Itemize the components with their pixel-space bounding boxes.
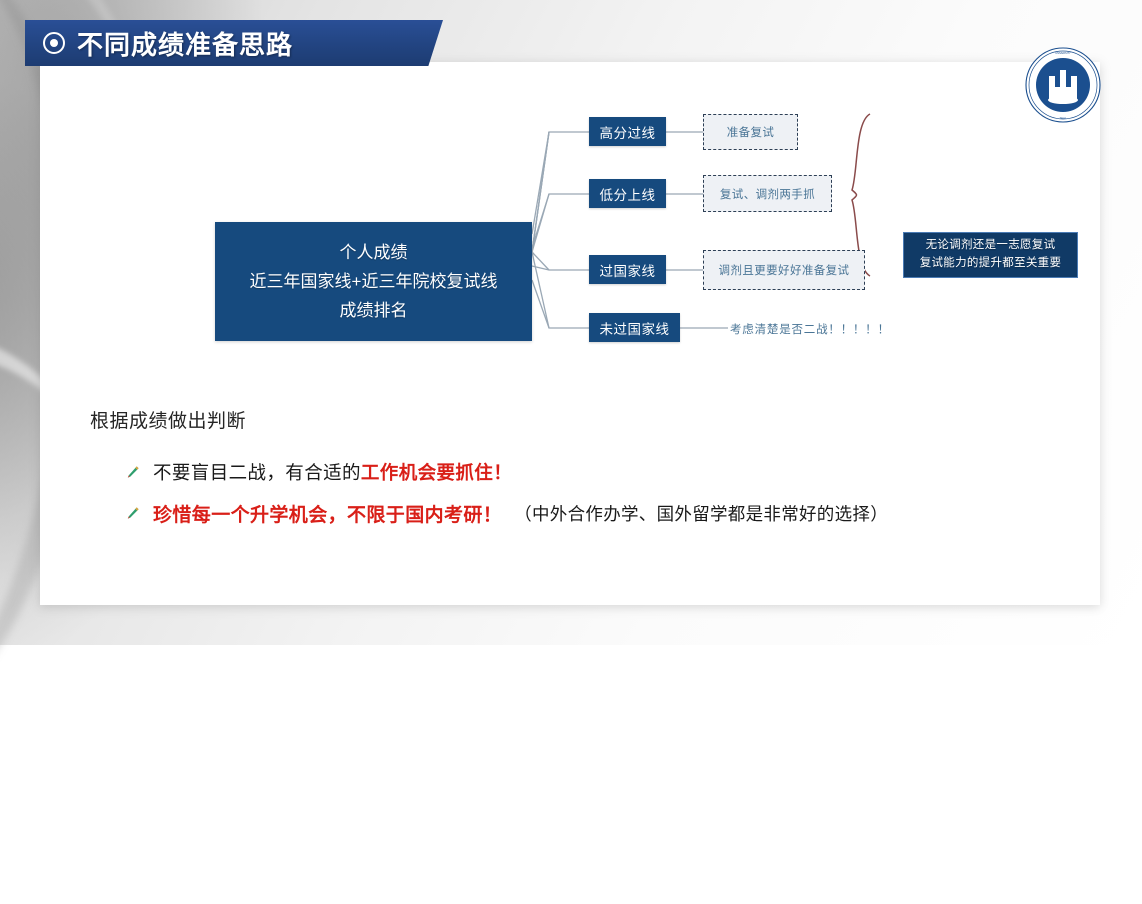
main-node-line-1: 个人成绩 [250,238,498,267]
bullet-1-emphasis: 工作机会要抓住 [361,459,493,485]
main-node-line-3: 成绩排名 [250,296,498,325]
bottom-lead-text: 根据成绩做出判断 [90,406,246,433]
branch-node-4: 未过国家线 [589,313,680,342]
strategy-diagram: 个人成绩 近三年国家线+近三年院校复试线 成绩排名 高分过线 低分上线 过国家线… [40,62,1100,392]
pencil-bullet-icon [125,506,140,521]
outcome-box-1: 准备复试 [703,114,798,150]
bullet-item-2: 珍惜每一个升学机会，不限于国内考研！（中外合作办学、国外留学都是非常好的选择） [125,500,888,527]
branch-node-1: 高分过线 [589,117,666,146]
bullet-2-emphasis: 珍惜每一个升学机会，不限于国内考研！ [153,500,502,527]
diagram-connectors [40,62,1100,392]
target-circle-icon [43,32,65,54]
bullet-1-suffix: ！ [493,459,512,485]
bullet-2-tail: （中外合作办学、国外留学都是非常好的选择） [514,501,888,526]
branch-node-3: 过国家线 [589,255,666,284]
slide-canvas: 不同成绩准备思路 UNIVERSITY SEAL [0,0,1142,645]
main-node: 个人成绩 近三年国家线+近三年院校复试线 成绩排名 [215,222,532,341]
bullet-1-prefix: 不要盲目二战，有合适的 [153,459,361,485]
slide-title-banner: 不同成绩准备思路 [25,20,443,66]
branch-node-2: 低分上线 [589,179,666,208]
callout-line-2: 复试能力的提升都至关重要 [920,255,1062,273]
outcome-box-3: 调剂且更要好好准备复试 [703,250,865,290]
slide-title-text: 不同成绩准备思路 [77,25,293,62]
outcome-text-4: 考虑清楚是否二战！！！！！ [730,321,890,337]
svg-text:UNIVERSITY: UNIVERSITY [1055,51,1071,55]
callout-line-1: 无论调剂还是一志愿复试 [926,237,1056,255]
outcome-box-2: 复试、调剂两手抓 [703,175,832,212]
main-node-line-2: 近三年国家线+近三年院校复试线 [250,267,498,296]
bullet-item-1: 不要盲目二战，有合适的工作机会要抓住！ [125,459,512,485]
pencil-bullet-icon [125,465,140,480]
callout-box: 无论调剂还是一志愿复试 复试能力的提升都至关重要 [903,232,1078,278]
